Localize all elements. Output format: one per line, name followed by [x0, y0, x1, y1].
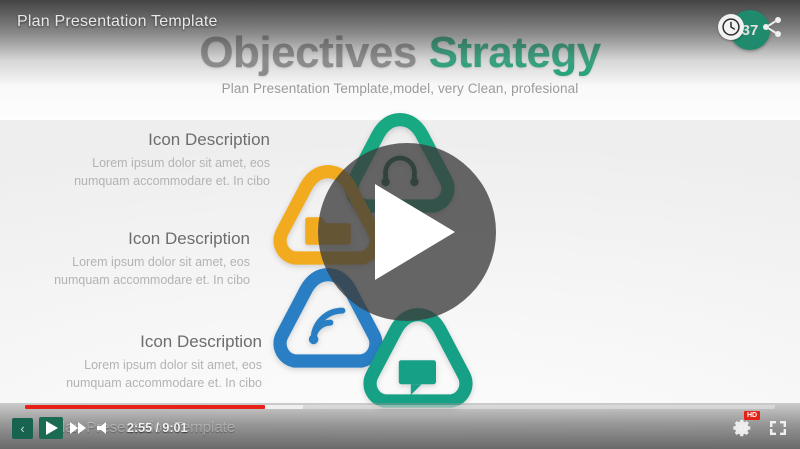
gear-icon: [732, 417, 754, 439]
volume-icon: [95, 420, 115, 436]
description-body: Lorem ipsum dolor sit amet, eos numquam …: [32, 356, 262, 392]
previous-button[interactable]: ‹: [12, 418, 33, 439]
heading-strategy: Strategy: [429, 28, 601, 77]
settings-button[interactable]: HD: [732, 417, 754, 439]
volume-button[interactable]: [95, 420, 115, 436]
share-icon: [760, 15, 784, 39]
video-player[interactable]: Objectives Strategy Plan Presentation Te…: [0, 0, 800, 449]
controls-left[interactable]: ‹ 2:55 / 9:01: [12, 415, 187, 441]
top-right-actions[interactable]: 37: [710, 6, 790, 50]
chat-icon: [399, 360, 436, 395]
progress-bar[interactable]: [25, 405, 775, 409]
fullscreen-icon: [768, 419, 788, 437]
description-title: Icon Description: [40, 130, 270, 150]
clock-icon: [721, 17, 741, 37]
rss-icon: [309, 311, 343, 345]
heading-objectives: Objectives: [199, 28, 417, 77]
video-title: Plan Presentation Template: [17, 13, 218, 31]
player-control-bar[interactable]: Plan Presentation Template ‹: [0, 403, 800, 449]
hd-badge: HD: [744, 411, 760, 420]
description-body: Lorem ipsum dolor sit amet, eos numquam …: [20, 253, 250, 289]
watch-later-button[interactable]: [718, 14, 744, 40]
play-button[interactable]: [39, 417, 63, 439]
slide-subtitle: Plan Presentation Template,model, very C…: [0, 81, 800, 96]
description-body: Lorem ipsum dolor sit amet, eos numquam …: [40, 154, 270, 190]
time-display: 2:55 / 9:01: [127, 421, 187, 435]
slide-heading: Objectives Strategy Plan Presentation Te…: [0, 30, 800, 96]
description-title: Icon Description: [20, 229, 250, 249]
description-block-2: Icon Description Lorem ipsum dolor sit a…: [20, 229, 250, 289]
share-button[interactable]: [759, 14, 785, 40]
description-block-1: Icon Description Lorem ipsum dolor sit a…: [40, 130, 270, 190]
next-track-icon: [69, 420, 89, 436]
progress-played: [25, 405, 265, 409]
controls-right[interactable]: HD: [732, 415, 788, 441]
play-icon: [46, 421, 58, 435]
center-play-button[interactable]: [318, 143, 496, 321]
fullscreen-button[interactable]: [768, 419, 788, 437]
description-title: Icon Description: [32, 332, 262, 352]
play-triangle-icon: [375, 184, 455, 280]
prev-chevron-icon: ‹: [20, 422, 24, 435]
description-block-3: Icon Description Lorem ipsum dolor sit a…: [32, 332, 262, 392]
next-button[interactable]: [69, 420, 89, 436]
